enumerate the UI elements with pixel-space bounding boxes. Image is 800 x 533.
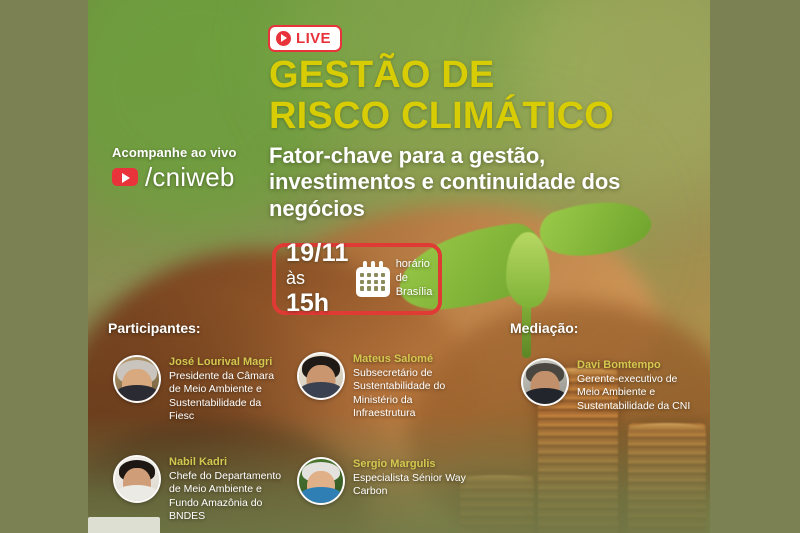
mediator-name: Davi Bomtempo [577, 359, 701, 373]
youtube-icon[interactable] [112, 168, 138, 186]
participant-name: José Lourival Magri [169, 356, 288, 370]
participant-role: Subsecretário de Sustentabilidade do Min… [353, 367, 472, 421]
live-badge: LIVE [268, 25, 342, 52]
time-prefix: às [286, 268, 305, 288]
event-date: 19/11 [286, 240, 349, 266]
title-line-2: RISCO CLIMÁTICO [269, 96, 689, 137]
webinar-promo-banner: LIVE GESTÃO DE RISCO CLIMÁTICO Fator-cha… [0, 0, 800, 533]
participant-role: Especialista Sénior Way Carbon [353, 472, 472, 499]
participant-text: José Lourival Magri Presidente da Câmara… [169, 355, 288, 424]
youtube-handle-row[interactable]: /cniweb [112, 164, 262, 190]
avatar [113, 355, 161, 403]
watch-live-block: Acompanhe ao vivo /cniweb [112, 145, 262, 190]
timezone-line-2: de Brasília [396, 272, 433, 300]
participant-role: Presidente da Câmara de Meio Ambiente e … [169, 370, 288, 424]
avatar [113, 455, 161, 503]
mediation-heading: Mediação: [510, 320, 578, 336]
title-line-1: GESTÃO DE [269, 54, 495, 96]
youtube-handle[interactable]: /cniweb [145, 164, 235, 190]
participant-name: Mateus Salomé [353, 353, 472, 367]
calendar-icon [356, 261, 390, 297]
play-circle-icon [276, 31, 291, 46]
participant-card: Sergio Margulis Especialista Sénior Way … [297, 457, 472, 505]
date-time-box: 19/11 às 15h [272, 243, 442, 315]
date-time-text: 19/11 às 15h [286, 240, 349, 318]
participant-name: Nabil Kadri [169, 456, 288, 470]
live-label: LIVE [296, 31, 331, 46]
mediator-text: Davi Bomtempo Gerente-executivo de Meio … [577, 358, 701, 413]
participant-card: Mateus Salomé Subsecretário de Sustentab… [297, 352, 472, 421]
banner-content: LIVE GESTÃO DE RISCO CLIMÁTICO Fator-cha… [0, 0, 800, 533]
calendar-grid [360, 273, 386, 291]
participants-heading: Participantes: [108, 320, 201, 336]
participant-role: Chefe do Departamento de Meio Ambiente e… [169, 470, 288, 524]
mediator-role: Gerente-executivo de Meio Ambiente e Sus… [577, 373, 701, 413]
avatar [297, 352, 345, 400]
participant-card: José Lourival Magri Presidente da Câmara… [113, 355, 288, 424]
avatar [297, 457, 345, 505]
page-subtitle: Fator-chave para a gestão, investimentos… [269, 143, 679, 222]
timezone-line-1: horário [396, 258, 433, 272]
participant-text: Nabil Kadri Chefe do Departamento de Mei… [169, 455, 288, 524]
participant-text: Mateus Salomé Subsecretário de Sustentab… [353, 352, 472, 421]
time-value: 15h [286, 289, 329, 317]
avatar [521, 358, 569, 406]
participant-card: Nabil Kadri Chefe do Departamento de Mei… [113, 455, 288, 524]
event-time: às 15h [286, 268, 349, 317]
participant-text: Sergio Margulis Especialista Sénior Way … [353, 457, 472, 499]
watch-live-label: Acompanhe ao vivo [112, 145, 262, 160]
mediator-card: Davi Bomtempo Gerente-executivo de Meio … [521, 358, 701, 413]
calendar-group: horário de Brasília [356, 258, 433, 299]
participant-name: Sergio Margulis [353, 458, 472, 472]
bottom-logo-sliver [88, 517, 160, 533]
timezone-caption: horário de Brasília [396, 258, 433, 299]
page-title: GESTÃO DE RISCO CLIMÁTICO [269, 55, 689, 136]
